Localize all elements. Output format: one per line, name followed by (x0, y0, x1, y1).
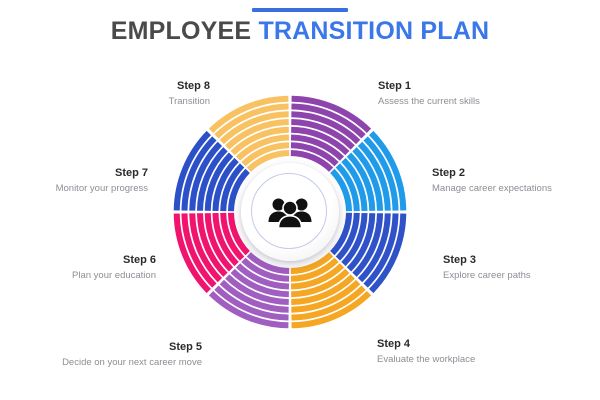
step-label-4[interactable]: Step 4 Evaluate the workplace (377, 338, 475, 365)
step-label-1[interactable]: Step 1 Assess the current skills (378, 80, 480, 107)
step-desc-2: Manage career expectations (432, 183, 552, 194)
people-group-icon (268, 195, 312, 229)
step-label-3[interactable]: Step 3 Explore career paths (443, 254, 531, 281)
step-title-1: Step 1 (378, 80, 480, 92)
step-desc-4: Evaluate the workplace (377, 354, 475, 365)
step-desc-6: Plan your education (72, 270, 156, 281)
step-label-2[interactable]: Step 2 Manage career expectations (432, 167, 552, 194)
step-desc-5: Decide on your next career move (62, 357, 202, 368)
step-desc-8: Transition (169, 96, 210, 107)
step-title-8: Step 8 (169, 80, 210, 92)
page-header: EMPLOYEE TRANSITION PLAN (0, 8, 600, 46)
step-label-8[interactable]: Step 8 Transition (169, 80, 210, 107)
step-title-2: Step 2 (432, 167, 552, 179)
step-desc-1: Assess the current skills (378, 96, 480, 107)
page-title-primary: EMPLOYEE (111, 17, 252, 45)
title-accent-bar (252, 8, 348, 12)
step-label-7[interactable]: Step 7 Monitor your progress (56, 167, 148, 194)
step-title-5: Step 5 (62, 341, 202, 353)
step-title-4: Step 4 (377, 338, 475, 350)
step-label-5[interactable]: Step 5 Decide on your next career move (62, 341, 202, 368)
step-desc-7: Monitor your progress (56, 183, 148, 194)
page-title-secondary: TRANSITION PLAN (258, 17, 489, 45)
transition-plan-wheel (170, 92, 410, 332)
step-title-3: Step 3 (443, 254, 531, 266)
page-title: EMPLOYEE TRANSITION PLAN (0, 18, 600, 46)
center-hub (241, 163, 339, 261)
step-label-6[interactable]: Step 6 Plan your education (72, 254, 156, 281)
step-title-7: Step 7 (56, 167, 148, 179)
step-desc-3: Explore career paths (443, 270, 531, 281)
step-title-6: Step 6 (72, 254, 156, 266)
